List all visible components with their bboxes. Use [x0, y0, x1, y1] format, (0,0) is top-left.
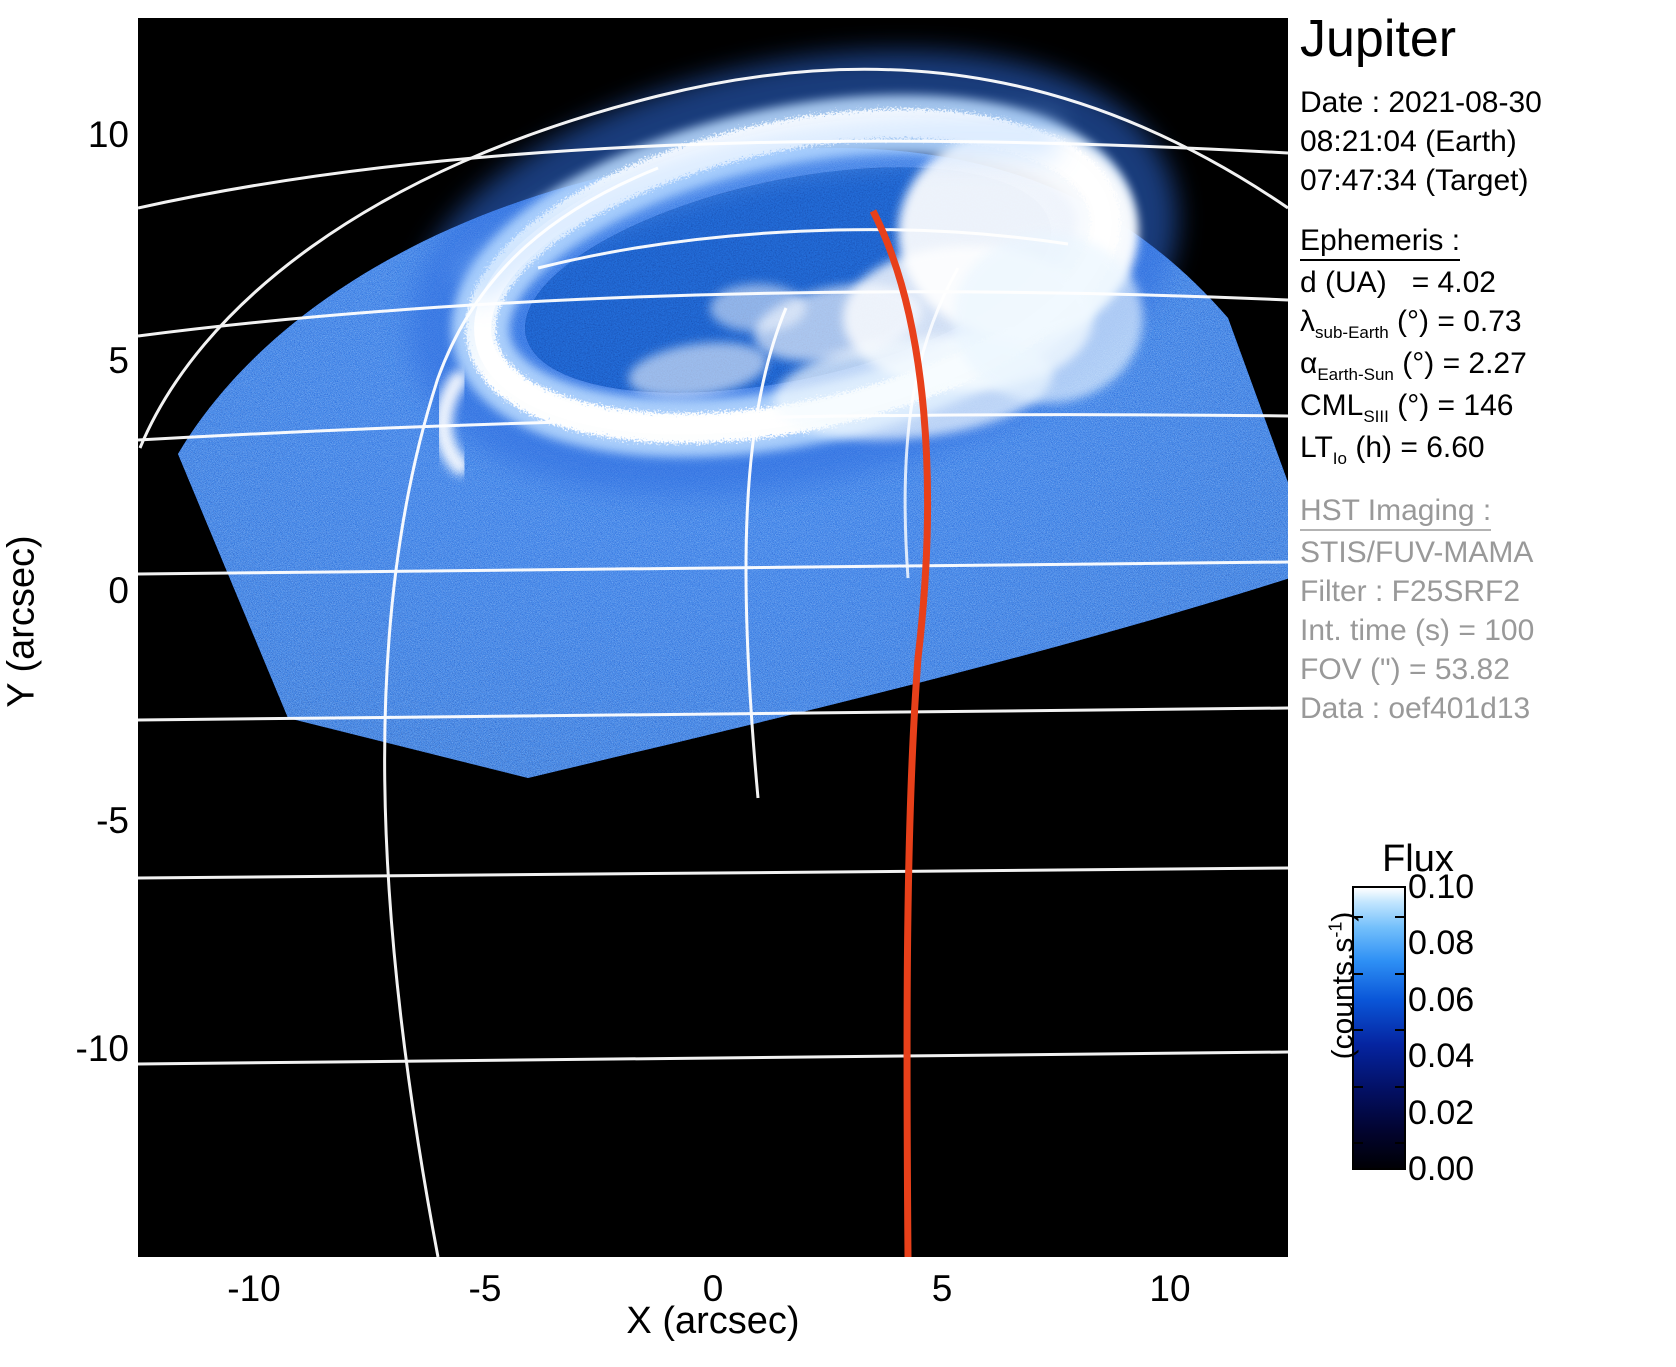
instrument-fov: FOV (") = 53.82: [1300, 650, 1676, 689]
x-axis-title: X (arcsec): [138, 1300, 1288, 1343]
ephemeris-heading: Ephemeris :: [1300, 224, 1460, 261]
lt-value: = 6.60: [1400, 431, 1484, 464]
ephemeris-lt-io: LTIo (h) = 6.60: [1300, 428, 1676, 470]
lambda-subscript: sub-Earth: [1315, 323, 1389, 342]
y-tick-label: -10: [0, 1028, 129, 1070]
figure-root: 10 5 0 -5 -10 Y (arcsec) -10 -5 0 5 10 X…: [0, 0, 1676, 1367]
ephemeris-distance-symbol: d: [1300, 266, 1317, 299]
instrument-detector: STIS/FUV-MAMA: [1300, 533, 1676, 572]
info-panel: Jupiter Date : 2021-08-30 08:21:04 (Eart…: [1300, 12, 1676, 728]
colorbar-tick-label: 0.00: [1408, 1152, 1474, 1186]
ephemeris-phase-angle: αEarth-Sun (°) = 2.27: [1300, 344, 1676, 386]
colorbar-tick-label: 0.02: [1408, 1096, 1474, 1130]
colorbar-tick-label: 0.08: [1408, 926, 1474, 960]
instrument-integration-time: Int. time (s) = 100: [1300, 611, 1676, 650]
cml-symbol: CML: [1300, 389, 1363, 422]
lt-subscript: Io: [1333, 449, 1347, 468]
alpha-value: = 2.27: [1443, 347, 1527, 380]
lambda-value: = 0.73: [1437, 305, 1521, 338]
instrument-heading: HST Imaging :: [1300, 494, 1491, 531]
observation-time-earth: 08:21:04 (Earth): [1300, 122, 1676, 161]
y-tick-label: 5: [0, 340, 129, 382]
alpha-symbol: α: [1300, 347, 1317, 380]
aurora-image-plot[interactable]: [138, 18, 1288, 1257]
instrument-dataset: Data : oef401d13: [1300, 689, 1676, 728]
alpha-unit: (°): [1402, 347, 1434, 380]
cml-unit: (°): [1397, 389, 1429, 422]
observation-time-target: 07:47:34 (Target): [1300, 161, 1676, 200]
colorbar-unit-text: (counts.s: [1327, 938, 1360, 1060]
colorbar-tick-label: 0.06: [1408, 983, 1474, 1017]
alpha-subscript: Earth-Sun: [1317, 365, 1394, 384]
lt-symbol: LT: [1300, 431, 1333, 464]
colorbar-unit-exponent: -1: [1326, 922, 1346, 938]
y-axis-title: Y (arcsec): [1, 472, 44, 772]
ephemeris-distance-unit: (UA): [1325, 266, 1387, 299]
colorbar-tick-label: 0.04: [1408, 1039, 1474, 1073]
ephemeris-distance-value: = 4.02: [1412, 266, 1496, 299]
plot-canvas: [138, 18, 1288, 1257]
lambda-unit: (°): [1397, 305, 1429, 338]
target-title: Jupiter: [1300, 12, 1676, 67]
colorbar-unit-label: (counts.s-1): [1326, 861, 1361, 1111]
y-tick-label: 10: [0, 114, 129, 156]
lambda-symbol: λ: [1300, 305, 1315, 338]
instrument-filter: Filter : F25SRF2: [1300, 572, 1676, 611]
ephemeris-distance: d (UA) = 4.02: [1300, 263, 1676, 302]
cml-subscript: SIII: [1363, 407, 1389, 426]
observation-date: Date : 2021-08-30: [1300, 83, 1676, 122]
ephemeris-sub-earth-longitude: λsub-Earth (°) = 0.73: [1300, 302, 1676, 344]
colorbar-tick-label: 0.10: [1408, 870, 1474, 904]
ephemeris-cml: CMLSIII (°) = 146: [1300, 386, 1676, 428]
colorbar-unit-close: ): [1327, 912, 1360, 922]
y-tick-label: -5: [0, 800, 129, 842]
cml-value: = 146: [1438, 389, 1514, 422]
lt-unit: (h): [1355, 431, 1392, 464]
